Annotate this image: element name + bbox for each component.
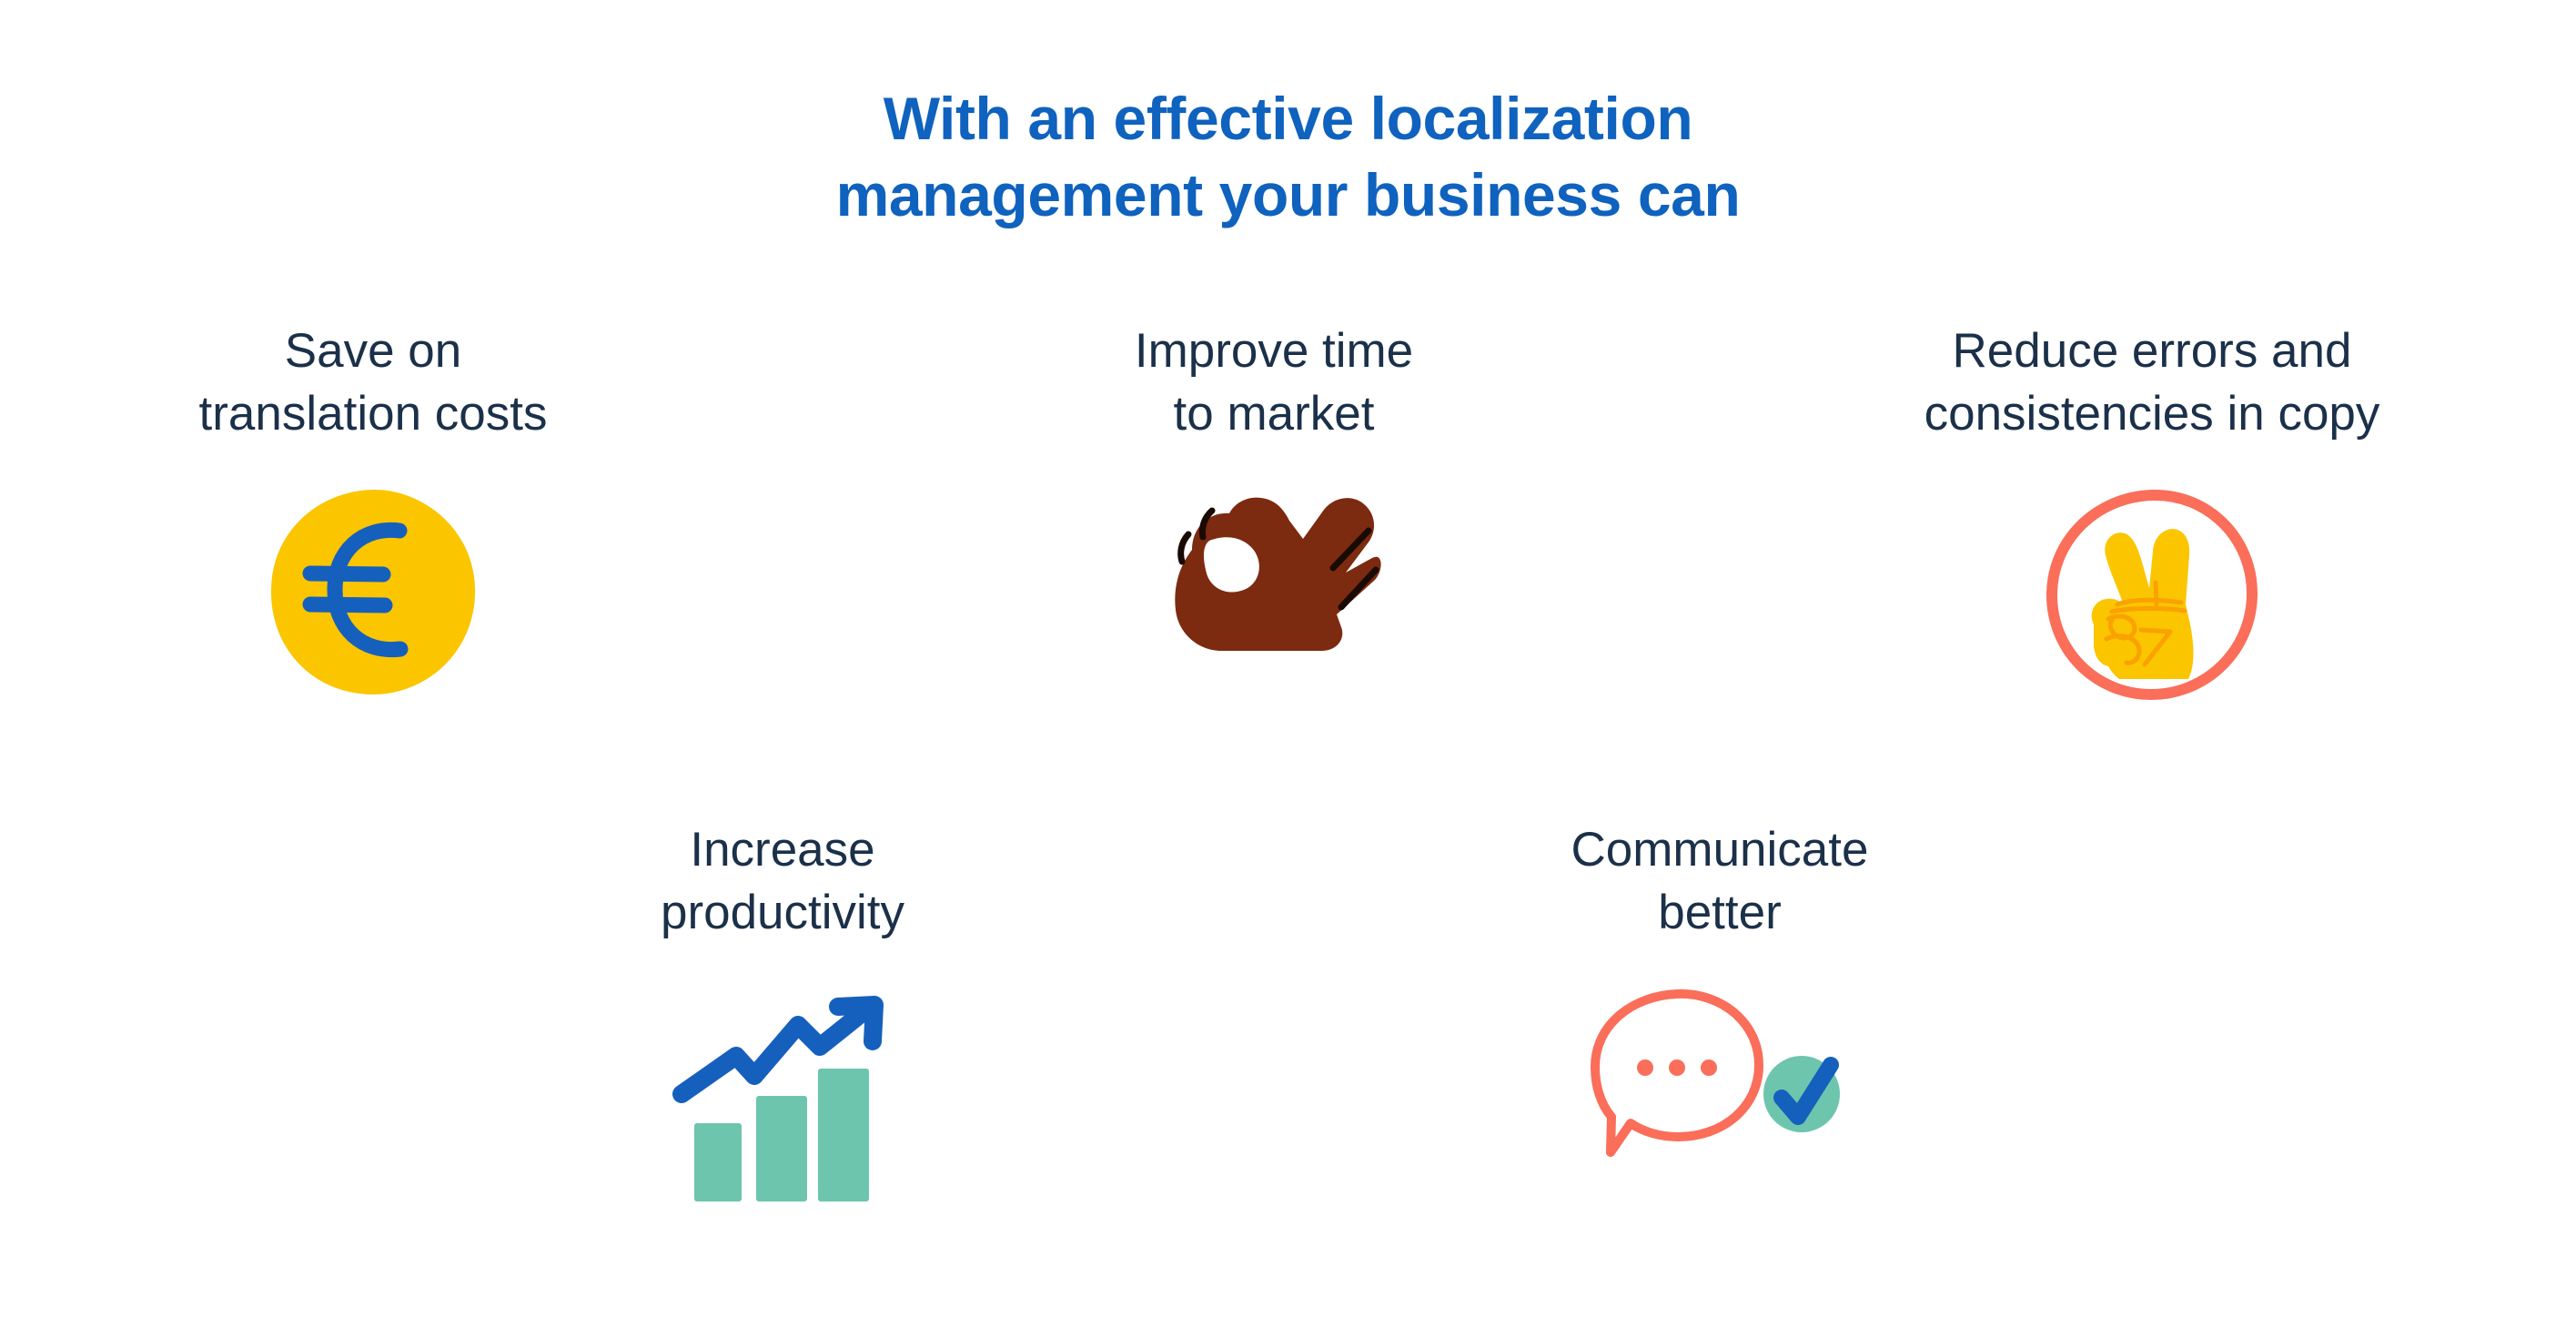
benefit-label-line-2: better <box>1571 882 1869 945</box>
benefit-label-save-on-translation-costs: Save on translation costs <box>199 320 548 446</box>
infographic-page: With an effective localization managemen… <box>0 0 2576 1328</box>
benefit-label-line-2: consistencies in copy <box>1924 383 2380 446</box>
benefit-label-line-1: Communicate <box>1571 819 1869 882</box>
benefit-label-increase-productivity: Increase productivity <box>661 819 904 945</box>
benefit-label-line-1: Increase <box>661 819 904 882</box>
euro-coin-icon <box>268 486 479 697</box>
growth-chart-icon <box>663 985 902 1223</box>
benefit-item-save-on-translation-costs: Save on translation costs <box>36 320 710 697</box>
page-title: With an effective localization managemen… <box>0 80 2576 234</box>
benefit-label-line-1: Reduce errors and <box>1924 320 2380 383</box>
page-title-line-1: With an effective localization <box>0 80 2576 157</box>
handshake-icon <box>1155 486 1393 659</box>
benefit-label-reduce-errors-and-consistencies-in-copy: Reduce errors and consistencies in copy <box>1924 320 2380 446</box>
benefit-label-line-2: productivity <box>661 882 904 945</box>
benefit-item-communicate-better: Communicate better <box>1383 819 2056 1167</box>
benefit-label-line-1: Improve time <box>1135 320 1413 383</box>
benefit-label-line-2: translation costs <box>199 383 548 446</box>
benefit-label-communicate-better: Communicate better <box>1571 819 1869 945</box>
benefit-label-improve-time-to-market: Improve time to market <box>1135 320 1413 446</box>
benefit-item-improve-time-to-market: Improve time to market <box>937 320 1611 659</box>
speech-bubble-check-icon <box>1583 985 1856 1167</box>
benefit-item-increase-productivity: Increase productivity <box>446 819 1119 1223</box>
page-title-line-2: management your business can <box>0 157 2576 233</box>
peace-hand-circle-icon <box>2043 486 2261 705</box>
benefit-label-line-2: to market <box>1135 383 1413 446</box>
benefit-item-reduce-errors-and-consistencies-in-copy: Reduce errors and consistencies in copy <box>1774 320 2530 705</box>
benefit-label-line-1: Save on <box>199 320 548 383</box>
